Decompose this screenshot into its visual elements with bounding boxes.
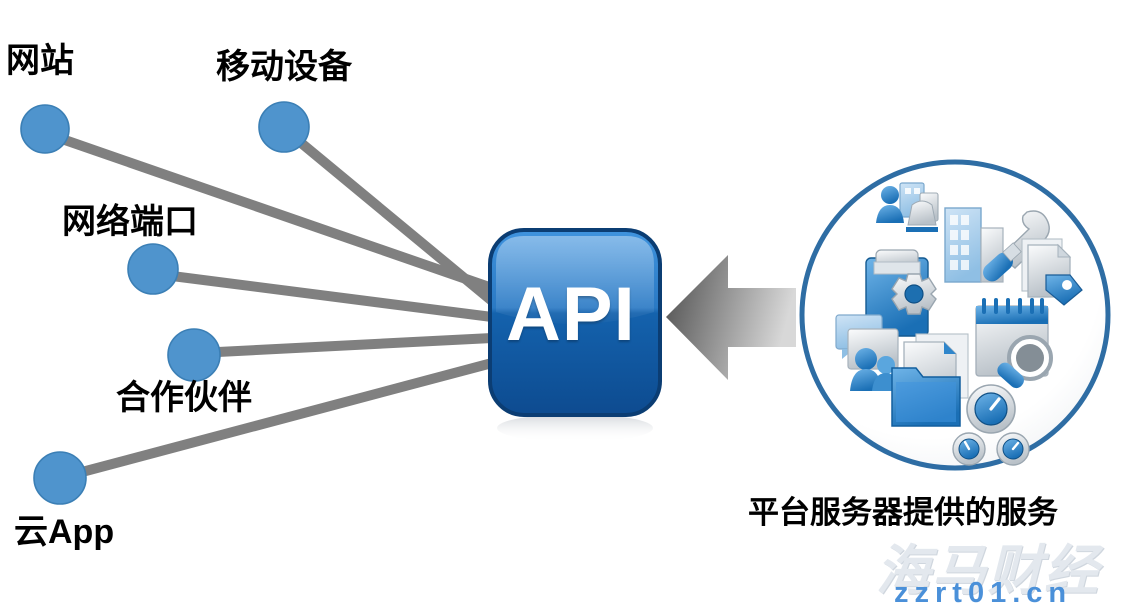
node-label-network-port: 网络端口 <box>62 205 198 241</box>
watermark-url: zzrt01.cn <box>894 577 1072 610</box>
node-partners <box>168 329 220 381</box>
connector-lines <box>62 139 492 472</box>
api-box-reflection <box>497 414 653 442</box>
node-mobile-device <box>259 102 309 152</box>
service-circle <box>802 162 1108 468</box>
node-cloud-app <box>34 452 86 504</box>
node-label-partners: 合作伙伴 <box>116 381 252 417</box>
connector-mobile-device <box>300 142 492 301</box>
node-network-port <box>128 244 178 294</box>
node-website <box>21 105 69 153</box>
source-nodes <box>21 102 309 504</box>
left-arrow-icon <box>666 255 796 380</box>
diagram-canvas: 网站 移动设备 网络端口 合作伙伴 云App API 平台服务器提供的服务 海马… <box>0 0 1126 612</box>
folder-documents-icon <box>892 334 968 426</box>
node-label-mobile-device: 移动设备 <box>216 50 352 86</box>
connector-partners <box>218 338 492 352</box>
node-label-website: 网站 <box>6 44 74 80</box>
node-label-cloud-app: 云App <box>14 515 114 551</box>
api-box-label: API <box>506 277 636 353</box>
connector-network-port <box>172 276 492 317</box>
